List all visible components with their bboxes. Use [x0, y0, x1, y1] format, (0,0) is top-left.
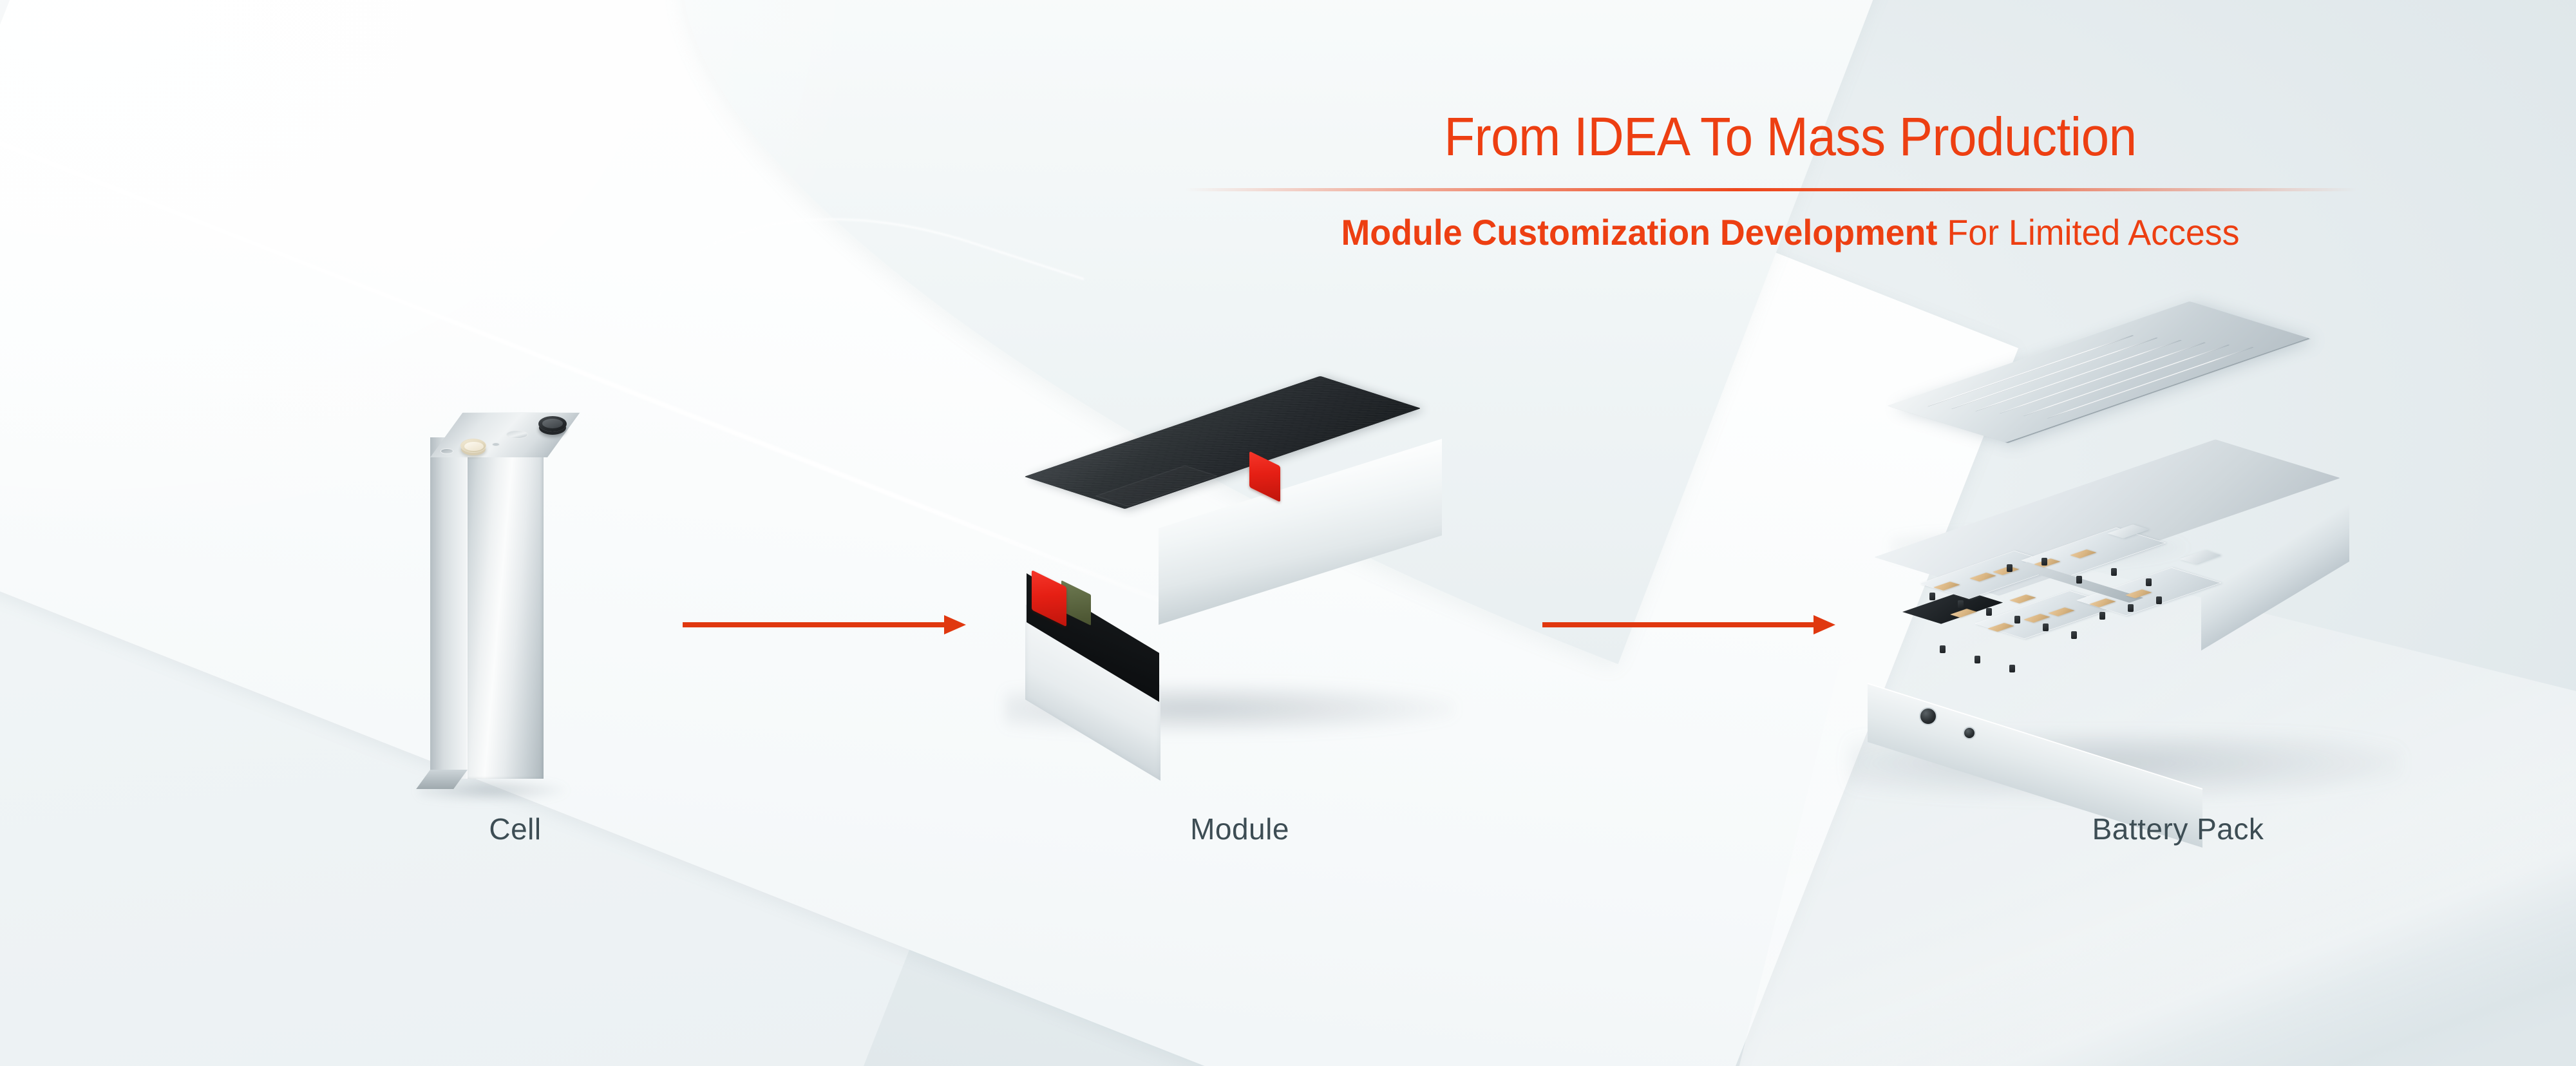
pack-bolt — [2146, 578, 2152, 586]
pack-bolt — [2099, 612, 2105, 620]
module-vent-icon — [1056, 529, 1073, 545]
pack-bolt — [2156, 596, 2162, 604]
pack-lid-rib — [1950, 338, 2158, 409]
arrow-shaft — [683, 622, 944, 627]
pack-bolt — [2043, 623, 2049, 631]
pack-lid-rib — [2046, 347, 2254, 418]
pack-lv-connector-icon — [1963, 727, 1976, 739]
pack-bolt — [2007, 564, 2012, 572]
stage-label-module: Module — [1190, 812, 1289, 846]
module-red-terminal-cap-icon-rear — [1249, 451, 1280, 502]
pack-tray-right-face — [2201, 504, 2349, 651]
pack-bolt — [1929, 593, 1935, 600]
background-curved-sheet-edge — [655, 155, 1084, 431]
promo-banner: From IDEA To Mass Production Module Cust… — [0, 0, 2576, 1066]
pack-bolt — [2041, 558, 2047, 566]
page-subtitle: Module Customization Development For Lim… — [1209, 214, 2372, 251]
pack-bolt — [1986, 608, 1992, 616]
pack-bolt — [1975, 656, 1980, 663]
module-illustration — [998, 451, 1488, 786]
header-block: From IDEA To Mass Production Module Cust… — [1185, 109, 2396, 251]
stage-label-battery-pack: Battery Pack — [2092, 812, 2264, 846]
stage-label-cell: Cell — [489, 812, 541, 846]
arrow-shaft — [1542, 622, 1814, 627]
cell-mount-hole-icon — [440, 448, 453, 454]
pack-bolt — [2128, 604, 2134, 612]
arrow-head-icon — [944, 615, 966, 634]
cell-vent-slot-icon — [506, 430, 528, 439]
page-title: From IDEA To Mass Production — [1227, 109, 2353, 164]
pack-bolt — [2111, 568, 2117, 576]
subtitle-strong-text: Module Customization Development — [1341, 212, 1938, 252]
pack-lid-rib — [1998, 342, 2206, 414]
cell-screw-icon — [492, 443, 500, 446]
cell-front-face — [468, 437, 544, 779]
header-divider — [1185, 188, 2357, 191]
pack-hv-connector-icon — [1919, 707, 1937, 725]
pack-lid-rib — [1974, 339, 2182, 411]
pack-lid — [1887, 301, 2308, 443]
arrow-module-to-pack — [1542, 615, 1835, 634]
cell-side-face — [430, 437, 468, 779]
arrow-head-icon — [1814, 615, 1835, 634]
subtitle-light-text: For Limited Access — [1937, 212, 2239, 252]
pack-bolt — [2071, 631, 2077, 639]
pack-bolt — [2014, 616, 2020, 623]
pack-bolt — [1958, 600, 1964, 608]
pack-bolt — [2076, 576, 2082, 584]
cell-illustration — [412, 412, 605, 799]
pack-lid-rib — [1926, 335, 2134, 406]
battery-pack-illustration — [1855, 399, 2434, 799]
arrow-cell-to-module — [683, 615, 966, 634]
pack-bolt — [2009, 665, 2015, 672]
pack-lid-rib — [2022, 345, 2230, 416]
pack-spacer-block — [2009, 595, 2036, 604]
cell-negative-terminal-icon — [538, 416, 567, 432]
pack-bolt — [1940, 645, 1946, 653]
cell-positive-terminal-icon — [460, 439, 486, 453]
